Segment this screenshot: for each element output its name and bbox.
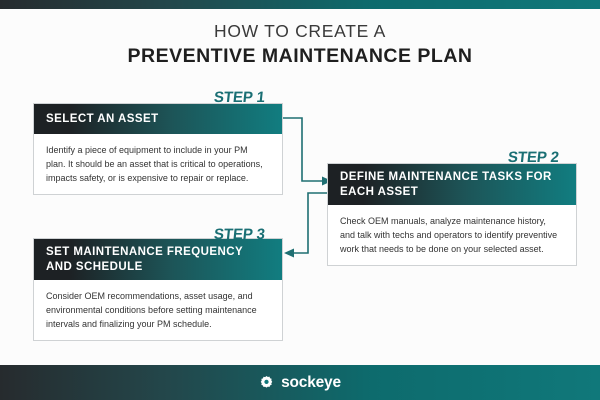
step-card-1: SELECT AN ASSET Identify a piece of equi… <box>33 103 283 195</box>
step-label-3: STEP 3 <box>213 226 266 243</box>
title-line-2: PREVENTIVE MAINTENANCE PLAN <box>0 43 600 70</box>
brand-logo: sockeye <box>0 365 600 400</box>
step-card-2-body: Check OEM manuals, analyze maintenance h… <box>328 205 576 265</box>
brand-name: sockeye <box>281 374 341 392</box>
footer-band: sockeye <box>0 365 600 400</box>
connector-step2-to-step3 <box>294 193 327 253</box>
page-title: HOW TO CREATE A PREVENTIVE MAINTENANCE P… <box>0 19 600 70</box>
step-card-1-body: Identify a piece of equipment to include… <box>34 134 282 194</box>
step-label-1: STEP 1 <box>213 89 266 106</box>
step-label-2: STEP 2 <box>507 149 560 166</box>
connector-step1-to-step2 <box>283 118 322 181</box>
step-card-3: SET MAINTENANCE FREQUENCY AND SCHEDULE C… <box>33 238 283 341</box>
step-card-2-header: DEFINE MAINTENANCE TASKS FOR EACH ASSET <box>328 164 576 205</box>
step-card-3-body: Consider OEM recommendations, asset usag… <box>34 280 282 340</box>
title-line-1: HOW TO CREATE A <box>0 19 600 43</box>
gear-icon <box>259 375 274 390</box>
arrowhead-into-step3 <box>284 249 294 258</box>
step-card-1-header: SELECT AN ASSET <box>34 104 282 134</box>
top-accent-band <box>0 0 600 9</box>
infographic-page: HOW TO CREATE A PREVENTIVE MAINTENANCE P… <box>0 0 600 400</box>
step-card-3-header: SET MAINTENANCE FREQUENCY AND SCHEDULE <box>34 239 282 280</box>
step-card-2: DEFINE MAINTENANCE TASKS FOR EACH ASSET … <box>327 163 577 266</box>
